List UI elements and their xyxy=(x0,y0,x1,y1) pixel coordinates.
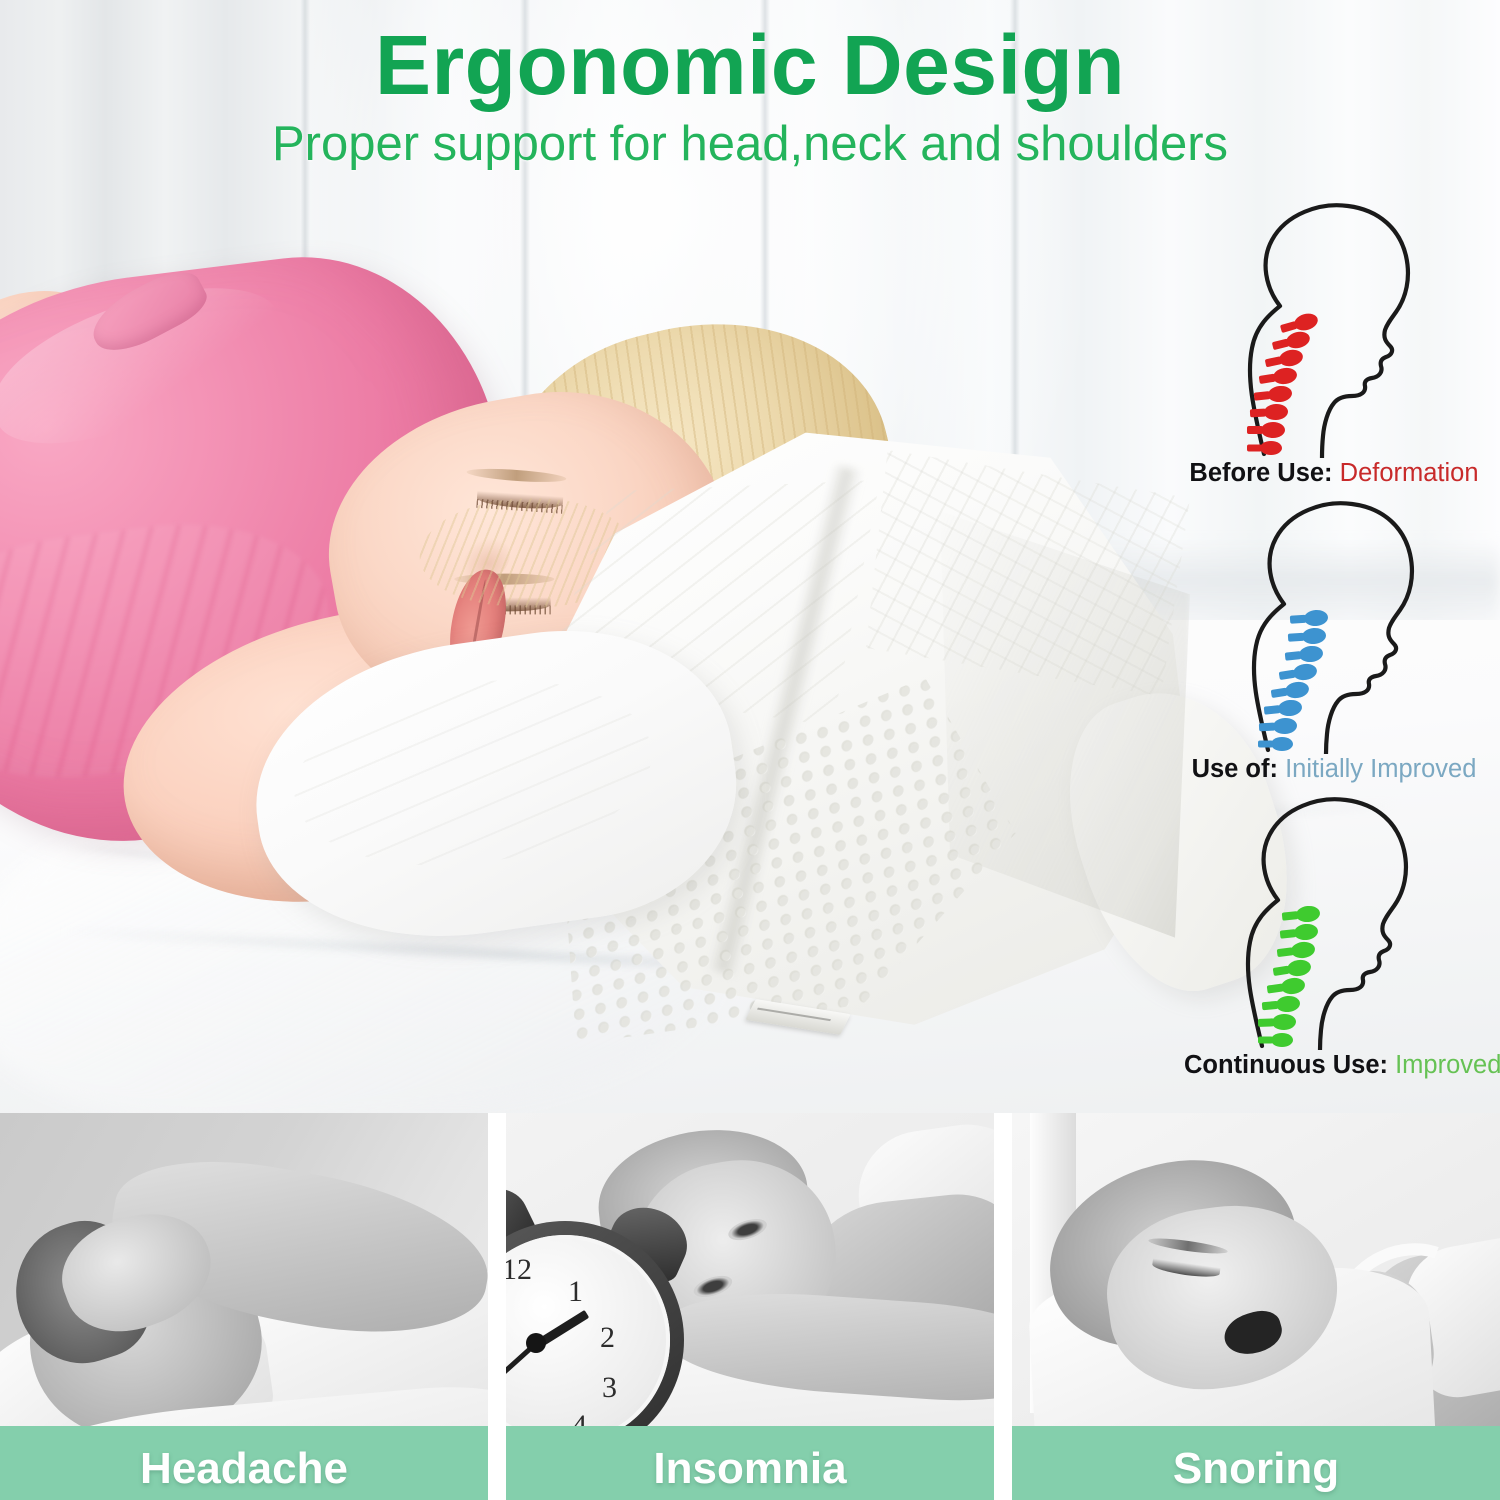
diagram-label: Before Use: xyxy=(1189,459,1332,487)
open-eye xyxy=(726,1215,770,1244)
panel-label-snoring: Snoring xyxy=(1012,1444,1500,1494)
clock-numeral: 2 xyxy=(600,1321,615,1355)
diagram-caption: Before Use: Deformation xyxy=(1184,459,1484,488)
title-block: Ergonomic Design Proper support for head… xyxy=(0,20,1500,172)
cervical-spine-icon xyxy=(1194,492,1474,754)
panel-insomnia: 12 1 2 3 4 5 6 Insomnia xyxy=(506,1113,994,1500)
symptom-panels: Headache 12 1 2 3 4 5 6 xyxy=(0,1113,1500,1500)
panel-snoring: Snoring xyxy=(1012,1113,1500,1500)
panel-label-headache: Headache xyxy=(0,1444,488,1494)
diagram-caption: Continuous Use: Improved xyxy=(1184,1051,1484,1080)
clock-numeral: 3 xyxy=(602,1371,617,1405)
diagram-continuous-use: Continuous Use: Improved xyxy=(1184,788,1484,1084)
diagram-use-of: Use of: Initially Improved xyxy=(1184,492,1484,788)
diagram-value: Initially Improved xyxy=(1285,755,1476,783)
diagram-before-use: Before Use: Deformation xyxy=(1184,196,1484,492)
panel-label-insomnia: Insomnia xyxy=(506,1444,994,1494)
clock-center-pin xyxy=(526,1333,546,1353)
diagram-value: Improved xyxy=(1395,1051,1500,1079)
panel-headache: Headache xyxy=(0,1113,488,1500)
clock-numeral: 12 xyxy=(506,1253,532,1287)
cervical-spine-icon xyxy=(1194,196,1474,458)
diagram-caption: Use of: Initially Improved xyxy=(1184,755,1484,784)
page-subtitle: Proper support for head,neck and shoulde… xyxy=(0,117,1500,172)
diagram-label: Use of: xyxy=(1192,755,1278,783)
cervical-spine-icon xyxy=(1194,788,1474,1050)
diagram-label: Continuous Use: xyxy=(1184,1051,1388,1079)
clock-numeral: 1 xyxy=(568,1275,583,1309)
diagram-value: Deformation xyxy=(1340,459,1479,487)
hero-section: Ergonomic Design Proper support for head… xyxy=(0,0,1500,1113)
page-title: Ergonomic Design xyxy=(0,20,1500,111)
spine-diagram-group: Before Use: Deformation xyxy=(1184,196,1484,1084)
